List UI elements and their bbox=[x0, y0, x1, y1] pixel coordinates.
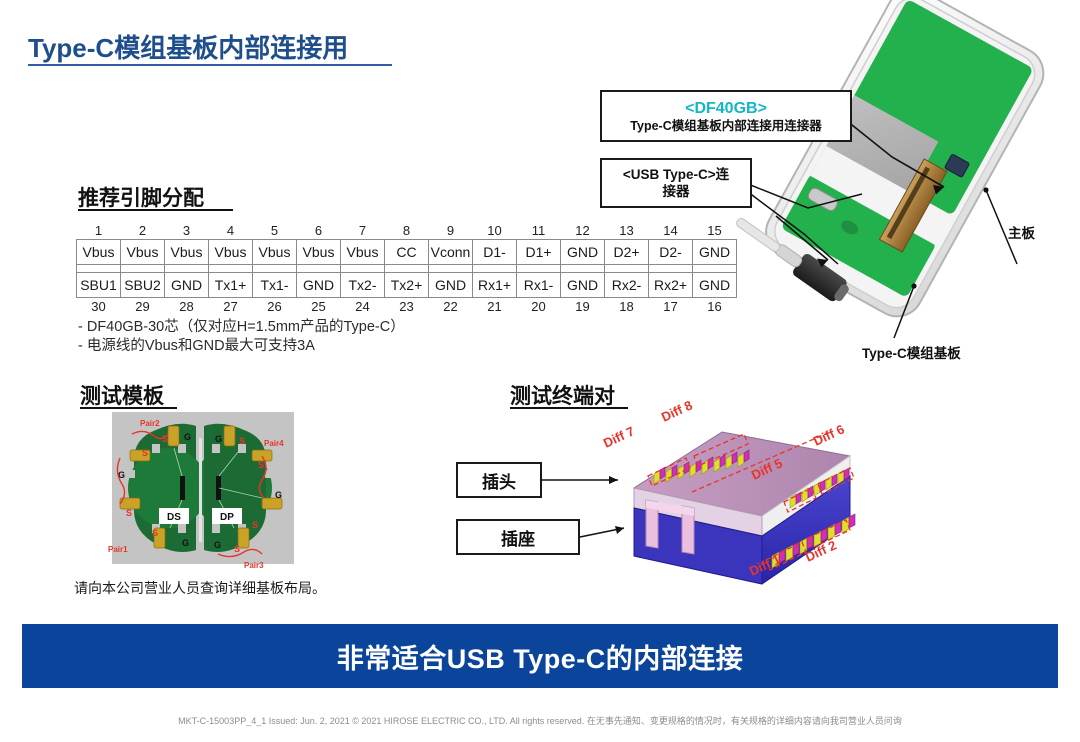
page-title: Type-C模组基板内部连接用 bbox=[28, 28, 348, 65]
pin-number: 17 bbox=[649, 298, 693, 316]
pin-cell: Vbus bbox=[165, 240, 209, 265]
pin-number: 5 bbox=[253, 222, 297, 240]
pin-cell: D2+ bbox=[605, 240, 649, 265]
pin-number: 28 bbox=[165, 298, 209, 316]
pin-number: 9 bbox=[429, 222, 473, 240]
pin-cell: GND bbox=[561, 240, 605, 265]
pin-number: 13 bbox=[605, 222, 649, 240]
pin-number: 19 bbox=[561, 298, 605, 316]
pin-number: 4 bbox=[209, 222, 253, 240]
pin-cell: GND bbox=[693, 240, 737, 265]
svg-text:G: G bbox=[182, 538, 189, 548]
usb-typec-line1: <USB Type-C>连 bbox=[623, 166, 729, 183]
pin-cell: Tx1- bbox=[253, 273, 297, 298]
svg-text:S: S bbox=[126, 508, 132, 518]
pin-number: 3 bbox=[165, 222, 209, 240]
svg-text:Diff 7: Diff 7 bbox=[601, 423, 637, 450]
pin-top-row: Vbus Vbus Vbus Vbus Vbus Vbus Vbus CC Vc… bbox=[77, 240, 737, 265]
footer-legal: MKT-C-15003PP_4_1 Issued: Jun. 2, 2021 ©… bbox=[0, 714, 1080, 727]
plug-label-box[interactable]: 插头 bbox=[456, 462, 542, 498]
pin-cell: Tx1+ bbox=[209, 273, 253, 298]
pin-cell: GND bbox=[429, 273, 473, 298]
pin-number: 24 bbox=[341, 298, 385, 316]
svg-text:S: S bbox=[142, 448, 148, 458]
pin-number: 14 bbox=[649, 222, 693, 240]
pin-cell: Rx1- bbox=[517, 273, 561, 298]
pin-number: 18 bbox=[605, 298, 649, 316]
pin-number: 23 bbox=[385, 298, 429, 316]
svg-text:Pair1: Pair1 bbox=[108, 545, 128, 554]
df40gb-title: <DF40GB> bbox=[685, 99, 767, 118]
pin-number: 12 bbox=[561, 222, 605, 240]
pin-bottom-numbers: 30 29 28 27 26 25 24 23 22 21 20 19 18 1… bbox=[77, 298, 737, 316]
svg-text:DP: DP bbox=[220, 512, 234, 523]
pin-number: 27 bbox=[209, 298, 253, 316]
note-line-1: - DF40GB-30芯（仅对应H=1.5mm产品的Type-C） bbox=[78, 318, 405, 337]
pin-cell: D1- bbox=[473, 240, 517, 265]
plug-socket-leader-lines bbox=[540, 462, 660, 562]
pin-number: 25 bbox=[297, 298, 341, 316]
pin-number: 6 bbox=[297, 222, 341, 240]
usb-typec-leader-line bbox=[746, 160, 876, 280]
summary-banner-text: 非常适合USB Type-C的内部连接 bbox=[337, 637, 744, 676]
test-board-caption: 请向本公司营业人员查询详细基板布局。 bbox=[74, 578, 326, 598]
pinout-notes: - DF40GB-30芯（仅对应H=1.5mm产品的Type-C） - 电源线的… bbox=[78, 318, 405, 356]
pin-cell: Vbus bbox=[209, 240, 253, 265]
mainboard-label: 主板 bbox=[1008, 222, 1035, 242]
pin-cell: GND bbox=[693, 273, 737, 298]
pin-cell: Rx2+ bbox=[649, 273, 693, 298]
pin-cell: GND bbox=[561, 273, 605, 298]
note-line-2: - 电源线的Vbus和GND最大可支持3A bbox=[78, 337, 405, 356]
svg-text:G: G bbox=[184, 432, 191, 442]
pin-cell: Vbus bbox=[77, 240, 121, 265]
module-board-label: Type-C模组基板 bbox=[862, 342, 961, 362]
svg-text:S: S bbox=[152, 528, 158, 538]
svg-text:Pair3: Pair3 bbox=[244, 561, 264, 570]
pin-cell: SBU1 bbox=[77, 273, 121, 298]
summary-banner: 非常适合USB Type-C的内部连接 bbox=[22, 624, 1058, 688]
svg-text:G: G bbox=[275, 490, 282, 500]
df40gb-callout[interactable]: <DF40GB> Type-C模组基板内部连接用连接器 bbox=[600, 90, 852, 142]
pin-cell: GND bbox=[297, 273, 341, 298]
df40gb-description: Type-C模组基板内部连接用连接器 bbox=[630, 118, 821, 134]
pin-number: 26 bbox=[253, 298, 297, 316]
pin-number: 16 bbox=[693, 298, 737, 316]
pin-number: 21 bbox=[473, 298, 517, 316]
svg-text:S: S bbox=[239, 436, 245, 446]
pin-number: 29 bbox=[121, 298, 165, 316]
pin-cell: Rx1+ bbox=[473, 273, 517, 298]
svg-text:Pair4: Pair4 bbox=[264, 439, 284, 448]
pinout-heading: 推荐引脚分配 bbox=[78, 182, 204, 212]
pin-number: 22 bbox=[429, 298, 473, 316]
pin-row-separator bbox=[77, 265, 737, 273]
pin-cell: Rx2- bbox=[605, 273, 649, 298]
pin-cell: D2- bbox=[649, 240, 693, 265]
testboard-heading-underline bbox=[80, 407, 177, 409]
usb-typec-line2: 接器 bbox=[663, 183, 690, 200]
pin-number: 15 bbox=[693, 222, 737, 240]
testboard-heading: 测试模板 bbox=[80, 380, 164, 410]
svg-text:S: S bbox=[258, 460, 264, 470]
slide-root: Type-C模组基板内部连接用 推荐引脚分配 1 2 3 4 5 6 7 8 9… bbox=[0, 0, 1080, 742]
pin-cell: SBU2 bbox=[121, 273, 165, 298]
svg-text:G: G bbox=[215, 434, 222, 444]
pin-cell: Vconn bbox=[429, 240, 473, 265]
test-board-photo: DS DP S G S G S S G G S S G S G S bbox=[112, 412, 294, 564]
svg-text:Diff 6: Diff 6 bbox=[811, 421, 847, 448]
pin-cell: Vbus bbox=[121, 240, 165, 265]
pin-number: 30 bbox=[77, 298, 121, 316]
pin-number: 11 bbox=[517, 222, 561, 240]
pin-cell: Tx2- bbox=[341, 273, 385, 298]
svg-text:G: G bbox=[214, 540, 221, 550]
pin-number: 7 bbox=[341, 222, 385, 240]
svg-text:S: S bbox=[234, 544, 240, 554]
pin-cell: Vbus bbox=[253, 240, 297, 265]
pin-cell: Vbus bbox=[341, 240, 385, 265]
pin-assignment-table: 1 2 3 4 5 6 7 8 9 10 11 12 13 14 15 Vbus… bbox=[76, 222, 737, 315]
pin-cell: GND bbox=[165, 273, 209, 298]
svg-text:DS: DS bbox=[167, 512, 181, 523]
svg-text:S: S bbox=[252, 520, 258, 530]
pinout-heading-underline bbox=[78, 209, 233, 211]
pin-number: 10 bbox=[473, 222, 517, 240]
usb-typec-callout[interactable]: <USB Type-C>连 接器 bbox=[600, 158, 752, 208]
svg-text:Diff 8: Diff 8 bbox=[659, 397, 695, 424]
pin-number: 8 bbox=[385, 222, 429, 240]
title-underline bbox=[28, 64, 392, 66]
pin-bottom-row: SBU1 SBU2 GND Tx1+ Tx1- GND Tx2- Tx2+ GN… bbox=[77, 273, 737, 298]
pin-cell: D1+ bbox=[517, 240, 561, 265]
svg-text:Pair2: Pair2 bbox=[140, 419, 160, 428]
pin-number: 2 bbox=[121, 222, 165, 240]
pin-number: 1 bbox=[77, 222, 121, 240]
pin-top-numbers: 1 2 3 4 5 6 7 8 9 10 11 12 13 14 15 bbox=[77, 222, 737, 240]
pin-cell: Vbus bbox=[297, 240, 341, 265]
pin-cell: Tx2+ bbox=[385, 273, 429, 298]
pin-cell: CC bbox=[385, 240, 429, 265]
pin-number: 20 bbox=[517, 298, 561, 316]
